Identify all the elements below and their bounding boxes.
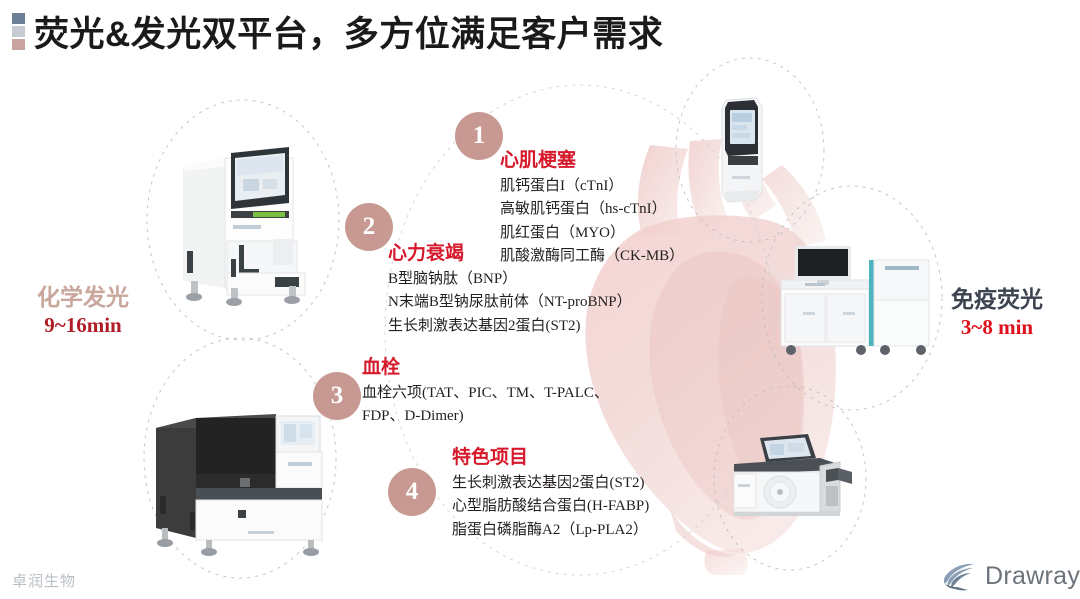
slide-header: 荧光&发光双平台，多方位满足客户需求 (0, 0, 1080, 62)
device-fluorescence-analyzer-large (775, 238, 935, 360)
section-2-item-3: 生长刺激表达基因2蛋白(ST2) (388, 315, 632, 338)
title-mark-1 (12, 13, 25, 24)
title-mark-3 (12, 39, 25, 50)
slide-root: 荧光&发光双平台，多方位满足客户需求 (0, 0, 1080, 599)
section-number-badge-4: 4 (388, 468, 436, 516)
section-4-heading: 特色项目 (452, 442, 649, 469)
section-number-badge-1: 1 (455, 112, 503, 160)
section-4-item-3: 脂蛋白磷脂酶A2（Lp-PLA2） (452, 519, 649, 542)
brand-logo-text: Drawray (985, 562, 1080, 591)
title-decoration-marks (12, 13, 25, 50)
right-platform-label: 免疫荧光 3~8 min (922, 285, 1072, 341)
section-thrombosis: 血栓 血栓六项(TAT、PIC、TM、T-PALC、 FDP、D-Dimer) (362, 352, 609, 429)
left-platform-name: 化学发光 (8, 283, 158, 312)
section-1-heading: 心肌梗塞 (500, 145, 684, 172)
section-3-heading: 血栓 (362, 352, 609, 379)
section-4-item-1: 生长刺激表达基因2蛋白(ST2) (452, 472, 649, 495)
left-platform-label: 化学发光 9~16min (8, 283, 158, 339)
section-2-item-1: B型脑钠肽（BNP） (388, 268, 632, 291)
section-1-item-1: 肌钙蛋白I（cTnI） (500, 175, 684, 198)
title-mark-2 (12, 26, 25, 37)
section-heart-failure: 心力衰竭 B型脑钠肽（BNP） N末端B型钠尿肽前体（NT-proBNP） 生长… (388, 238, 632, 338)
section-number-badge-3: 3 (313, 372, 361, 420)
drawray-wing-icon (940, 560, 978, 592)
section-3-item-2: FDP、D-Dimer) (362, 405, 609, 428)
left-platform-time: 9~16min (8, 312, 158, 339)
right-platform-time: 3~8 min (922, 314, 1072, 341)
device-handheld-fluorescence-reader (714, 96, 772, 206)
section-1-item-2: 高敏肌钙蛋白（hs-cTnI） (500, 198, 684, 221)
device-chemiluminescence-analyzer-bottom-left (148, 400, 333, 560)
page-title: 荧光&发光双平台，多方位满足客户需求 (34, 6, 663, 57)
section-2-heading: 心力衰竭 (388, 238, 632, 265)
brand-logo: Drawray (940, 560, 1080, 592)
section-2-item-2: N末端B型钠尿肽前体（NT-proBNP） (388, 291, 632, 314)
footer-company-name: 卓润生物 (12, 570, 76, 591)
section-4-item-2: 心型脂肪酸结合蛋白(H-FABP) (452, 495, 649, 518)
right-platform-name: 免疫荧光 (922, 285, 1072, 314)
section-3-item-1: 血栓六项(TAT、PIC、TM、T-PALC、 (362, 382, 609, 405)
device-chemiluminescence-analyzer-top-left (165, 133, 325, 308)
section-featured-items: 特色项目 生长刺激表达基因2蛋白(ST2) 心型脂肪酸结合蛋白(H-FABP) … (452, 442, 649, 542)
section-number-badge-2: 2 (345, 203, 393, 251)
device-benchtop-fluorescence-analyzer (720, 428, 865, 528)
